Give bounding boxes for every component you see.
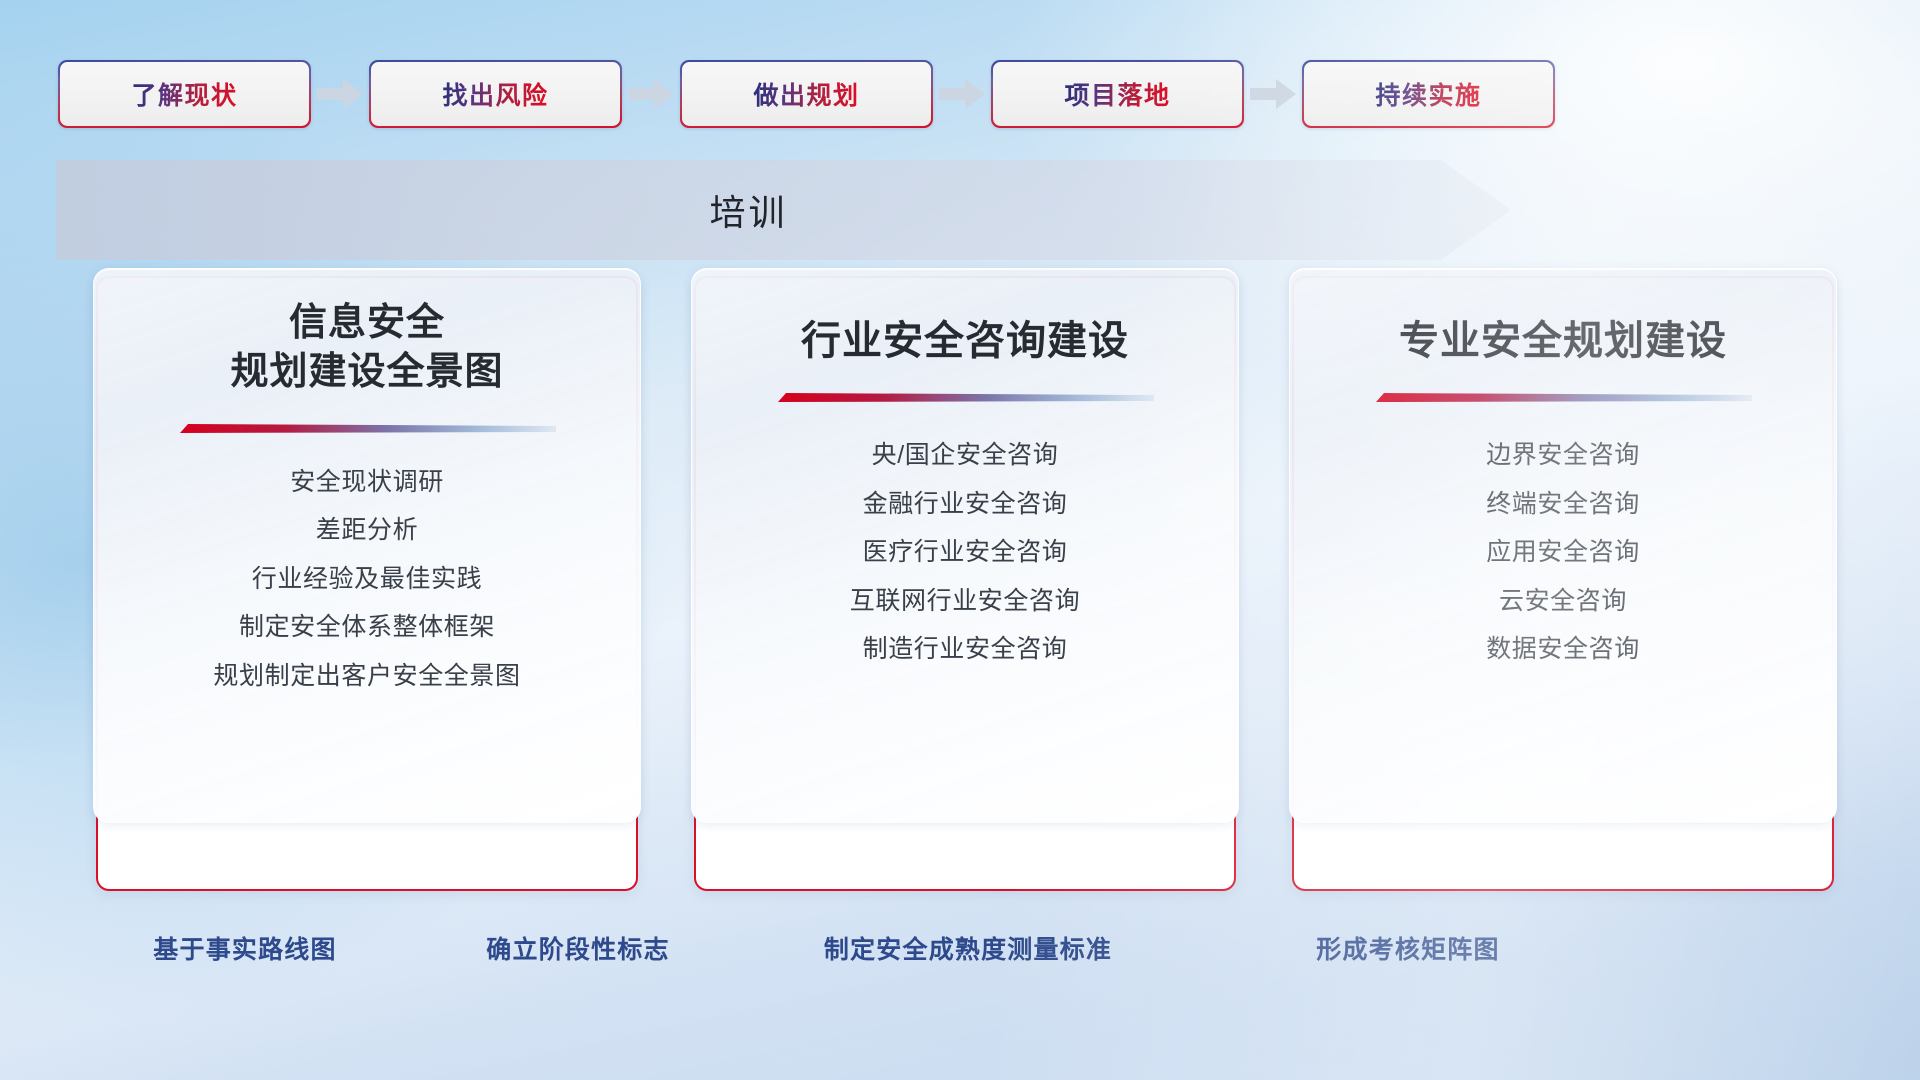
list-item: 云安全咨询 [1499, 583, 1627, 621]
card-information-security-panorama[interactable]: 信息安全 规划建设全景图 [96, 276, 638, 891]
step-label: 项目落地 [1064, 76, 1170, 112]
step-label: 了解现状 [131, 76, 237, 112]
step-arrow-icon-1 [311, 77, 369, 111]
step-arrow-icon-3 [933, 77, 991, 111]
step-box-5[interactable]: 持续实施 [1302, 60, 1555, 128]
card-row: 信息安全 规划建设全景图 [96, 276, 1834, 891]
card-title: 行业安全咨询建设 [801, 315, 1129, 367]
card-item-list: 边界安全咨询 终端安全咨询 应用安全咨询 云安全咨询 数据安全咨询 [1486, 437, 1640, 669]
card-divider-icon [1374, 389, 1752, 407]
list-item: 互联网行业安全咨询 [850, 583, 1080, 621]
step-box-inner: 找出风险 [371, 62, 621, 127]
card-professional-security-planning[interactable]: 专业安全规划建设 [1292, 276, 1834, 891]
step-box-2[interactable]: 找出风险 [369, 60, 622, 128]
training-banner: 培训 [56, 160, 1511, 260]
process-step-row: 了解现状 找出风险 做出规划 [58, 60, 1868, 128]
list-item: 行业经验及最佳实践 [252, 561, 482, 599]
step-arrow-icon-4 [1244, 77, 1302, 111]
step-box-inner: 做出规划 [682, 62, 932, 127]
step-box-inner: 了解现状 [60, 62, 310, 127]
step-arrow-icon-2 [622, 77, 680, 111]
step-box-3[interactable]: 做出规划 [680, 60, 933, 128]
list-item: 差距分析 [316, 512, 418, 550]
list-item: 规划制定出客户安全全景图 [213, 658, 520, 696]
training-banner-label-wrap: 培训 [56, 160, 1511, 260]
card-divider-icon [776, 389, 1154, 407]
slide-canvas: 了解现状 找出风险 做出规划 [0, 0, 1920, 1080]
list-item: 终端安全咨询 [1486, 486, 1640, 524]
card-title: 信息安全 规划建设全景图 [230, 299, 503, 398]
card-divider-icon [178, 420, 556, 438]
card-industry-security-consulting[interactable]: 行业安全咨询建设 [694, 276, 1236, 891]
list-item: 应用安全咨询 [1486, 534, 1640, 572]
outcome-label-2: 确立阶段性标志 [486, 930, 669, 966]
outcome-label-4: 形成考核矩阵图 [1316, 930, 1499, 966]
list-item: 边界安全咨询 [1486, 437, 1640, 475]
card-item-list: 央/国企安全咨询 金融行业安全咨询 医疗行业安全咨询 互联网行业安全咨询 制造行… [850, 437, 1080, 669]
card-glass-panel: 行业安全咨询建设 [691, 268, 1239, 823]
outcome-label-row: 基于事实路线图 确立阶段性标志 制定安全成熟度测量标准 形成考核矩阵图 [0, 930, 1920, 980]
list-item: 制造行业安全咨询 [863, 631, 1068, 669]
card-glass-panel: 专业安全规划建设 [1289, 268, 1837, 823]
card-title: 专业安全规划建设 [1399, 315, 1727, 367]
list-item: 数据安全咨询 [1486, 631, 1640, 669]
step-box-4[interactable]: 项目落地 [991, 60, 1244, 128]
step-box-inner: 项目落地 [993, 62, 1243, 127]
outcome-label-3: 制定安全成熟度测量标准 [824, 930, 1112, 966]
training-banner-label: 培训 [709, 184, 787, 236]
step-box-1[interactable]: 了解现状 [58, 60, 311, 128]
outcome-label-1: 基于事实路线图 [153, 930, 336, 966]
list-item: 安全现状调研 [290, 464, 444, 502]
card-glass-panel: 信息安全 规划建设全景图 [93, 268, 641, 823]
list-item: 央/国企安全咨询 [872, 437, 1059, 475]
step-label: 做出规划 [753, 76, 859, 112]
list-item: 制定安全体系整体框架 [239, 609, 495, 647]
list-item: 金融行业安全咨询 [863, 486, 1068, 524]
step-box-inner: 持续实施 [1304, 62, 1554, 127]
card-item-list: 安全现状调研 差距分析 行业经验及最佳实践 制定安全体系整体框架 规划制定出客户… [213, 464, 520, 696]
list-item: 医疗行业安全咨询 [863, 534, 1068, 572]
step-label: 持续实施 [1375, 76, 1481, 112]
step-label: 找出风险 [442, 76, 548, 112]
